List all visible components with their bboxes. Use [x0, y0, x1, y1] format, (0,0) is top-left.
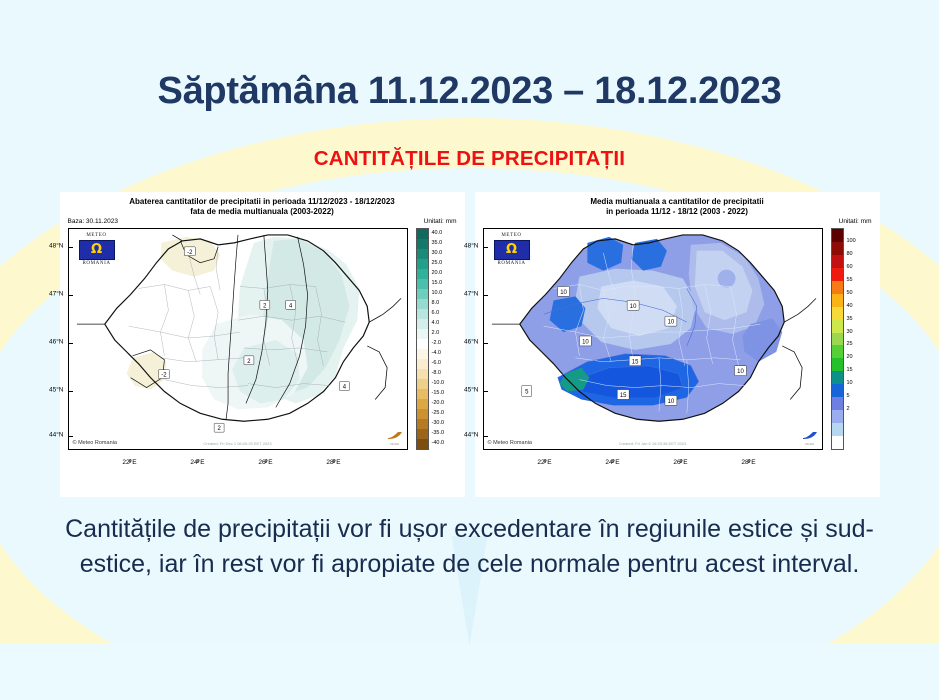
left-map-created: Created: Fri Dec 1 06:00:29 EET 2023 [203, 441, 271, 446]
y-tick-label: 46°N [49, 339, 64, 346]
right-map-frame: 10 10 10 10 10 15 15 [483, 228, 823, 450]
ncar-flag-icon [387, 431, 403, 440]
neighbor-border [369, 298, 401, 322]
colorbar-cell [417, 319, 428, 329]
y-tick-label: 48°N [464, 243, 479, 250]
y-axis-tick [69, 343, 73, 344]
colorbar-tick-label: -35.0 [432, 430, 445, 436]
colorbar-cell [417, 239, 428, 249]
right-map-plot[interactable]: 48°N 47°N 46°N 45°N 44°N [483, 228, 823, 450]
left-map-colorbar[interactable] [416, 228, 429, 450]
y-axis-tick [484, 391, 488, 392]
colorbar-tick-label: 6.0 [432, 310, 440, 316]
colorbar-cell [417, 269, 428, 279]
colorbar-tick-label: 25.0 [432, 260, 443, 266]
logo-top-text: METEO [491, 233, 533, 239]
y-tick-label: 48°N [49, 243, 64, 250]
right-map-copyright: © Meteo Romania [488, 440, 532, 446]
colorbar-cell [417, 249, 428, 259]
contour-label: 15 [619, 393, 626, 399]
colorbar-cell [832, 242, 843, 255]
x-tick-label: 28°E [326, 459, 340, 466]
left-map-base-label: Baza: 30.11.2023 [68, 218, 118, 225]
right-map-meta: Unitati: mm [483, 218, 872, 225]
omega-icon: Ω [506, 243, 517, 256]
right-map-panel[interactable]: Media multianuala a cantitatilor de prec… [475, 192, 880, 497]
y-axis-tick [484, 343, 488, 344]
colorbar-cell [832, 307, 843, 320]
colorbar-cell [417, 349, 428, 359]
colorbar-tick-label: 25 [847, 341, 853, 347]
colorbar-tick-label: -2.0 [432, 340, 441, 346]
colorbar-tick-label: -10.0 [432, 380, 445, 386]
neighbor-border [784, 298, 816, 322]
precip-ne-spot [717, 270, 735, 288]
colorbar-cell [417, 329, 428, 339]
left-map-title-line2: fata de media multianuala (2003-2022) [60, 207, 465, 217]
contour-label: 10 [560, 290, 567, 296]
colorbar-cell [832, 281, 843, 294]
right-map-title-line2: in perioada 11/12 - 18/12 (2003 - 2022) [475, 207, 880, 217]
contour-label: 10 [737, 369, 744, 375]
colorbar-cell [832, 410, 843, 423]
colorbar-cell [832, 333, 843, 346]
logo-bottom-text: ROMANIA [76, 261, 118, 267]
ncar-label: NCAR [802, 442, 818, 446]
right-map-y-axis: 48°N 47°N 46°N 45°N 44°N [457, 228, 481, 450]
x-tick-label: 24°E [190, 459, 204, 466]
colorbar-tick-label: 30 [847, 329, 853, 335]
colorbar-tick-label: 30.0 [432, 250, 443, 256]
y-tick-label: 45°N [464, 387, 479, 394]
left-map-graphic: -2 -2 2 2 4 4 2 [69, 229, 407, 449]
colorbar-cell [417, 399, 428, 409]
colorbar-tick-label: -15.0 [432, 390, 445, 396]
x-tick-label: 22°E [537, 459, 551, 466]
colorbar-tick-label: 40.0 [432, 230, 443, 236]
right-map-colorbar[interactable] [831, 228, 844, 450]
maps-row: Abaterea cantitatilor de precipitatii in… [0, 192, 939, 497]
right-map-title-line1: Media multianuala a cantitatilor de prec… [475, 197, 880, 207]
colorbar-cell [832, 345, 843, 358]
colorbar-tick-label: -20.0 [432, 400, 445, 406]
left-map-plot[interactable]: 48°N 47°N 46°N 45°N 44°N [68, 228, 408, 450]
contour-label: -2 [187, 250, 192, 256]
y-axis-tick [484, 247, 488, 248]
y-axis-tick [484, 295, 488, 296]
x-tick-label: 28°E [741, 459, 755, 466]
colorbar-cell [832, 384, 843, 397]
colorbar-tick-label: -4.0 [432, 350, 441, 356]
y-tick-label: 46°N [464, 339, 479, 346]
colorbar-cell [832, 320, 843, 333]
omega-icon: Ω [91, 243, 102, 256]
caption-text: Cantitățile de precipitații vor fi ușor … [50, 512, 889, 581]
right-map-graphic: 10 10 10 10 10 15 15 [484, 229, 822, 449]
meteo-romania-logo: METEO Ω ROMANIA [491, 233, 533, 266]
ncar-flag-icon [802, 431, 818, 440]
y-tick-label: 45°N [49, 387, 64, 394]
x-tick-label: 26°E [673, 459, 687, 466]
colorbar-tick-label: 10 [847, 380, 853, 386]
colorbar-cell [417, 339, 428, 349]
y-axis-tick [69, 436, 73, 437]
left-map-title-line1: Abaterea cantitatilor de precipitatii in… [60, 197, 465, 207]
colorbar-tick-label: 20.0 [432, 270, 443, 276]
colorbar-cell [832, 294, 843, 307]
x-tick-label: 22°E [122, 459, 136, 466]
colorbar-cell [832, 436, 843, 449]
colorbar-tick-label: 10.0 [432, 290, 443, 296]
right-map-created: Created: Fri Jan 6 16:25:38 EET 2023 [619, 441, 687, 446]
colorbar-cell [417, 439, 428, 449]
colorbar-cell [417, 299, 428, 309]
colorbar-cell [417, 309, 428, 319]
colorbar-cell [417, 379, 428, 389]
colorbar-tick-label: 5 [847, 393, 850, 399]
colorbar-tick-label: 35 [847, 316, 853, 322]
colorbar-tick-label: -6.0 [432, 360, 441, 366]
y-axis-tick [484, 436, 488, 437]
right-map-colorbar-labels: 100806055504035302520151052 [845, 228, 875, 450]
colorbar-cell [417, 289, 428, 299]
x-tick-label: 26°E [258, 459, 272, 466]
left-map-units-label: Unitati: mm [424, 218, 457, 225]
logo-bottom-text: ROMANIA [491, 261, 533, 267]
colorbar-tick-label: 50 [847, 290, 853, 296]
left-map-title: Abaterea cantitatilor de precipitatii in… [60, 192, 465, 217]
colorbar-cell [417, 419, 428, 429]
y-tick-label: 47°N [464, 291, 479, 298]
y-tick-label: 44°N [464, 432, 479, 439]
right-map-title: Media multianuala a cantitatilor de prec… [475, 192, 880, 217]
colorbar-cell [417, 409, 428, 419]
logo-box: Ω [79, 240, 115, 260]
colorbar-tick-label: 4.0 [432, 320, 440, 326]
y-tick-label: 44°N [49, 432, 64, 439]
colorbar-cell [417, 369, 428, 379]
black-sea-coast [367, 346, 387, 400]
colorbar-tick-label: 35.0 [432, 240, 443, 246]
contour-label: 10 [582, 339, 589, 345]
left-map-frame: -2 -2 2 2 4 4 2 [68, 228, 408, 450]
y-axis-tick [69, 247, 73, 248]
colorbar-cell [832, 358, 843, 371]
colorbar-tick-label: 15.0 [432, 280, 443, 286]
left-map-y-axis: 48°N 47°N 46°N 45°N 44°N [42, 228, 66, 450]
x-tick-label: 24°E [605, 459, 619, 466]
ncar-logo: NCAR [387, 431, 403, 446]
colorbar-tick-label: -40.0 [432, 440, 445, 446]
colorbar-tick-label: -30.0 [432, 420, 445, 426]
right-map-x-axis: 22°E 24°E 26°E 28°E [483, 452, 823, 472]
colorbar-cell [832, 229, 843, 242]
colorbar-tick-label: 8.0 [432, 300, 440, 306]
page-title: Săptămâna 11.12.2023 – 18.12.2023 [0, 0, 939, 112]
colorbar-cell [832, 268, 843, 281]
colorbar-tick-label: -25.0 [432, 410, 445, 416]
y-axis-tick [69, 391, 73, 392]
colorbar-cell [417, 429, 428, 439]
background-bottom-band [0, 644, 939, 700]
colorbar-cell [832, 371, 843, 384]
contour-label: 10 [667, 320, 674, 326]
contour-label: 15 [631, 359, 638, 365]
ncar-logo: NCAR [802, 431, 818, 446]
left-map-panel[interactable]: Abaterea cantitatilor de precipitatii in… [60, 192, 465, 497]
colorbar-tick-label: 55 [847, 277, 853, 283]
colorbar-cell [417, 389, 428, 399]
colorbar-cell [417, 359, 428, 369]
black-sea-coast [782, 346, 802, 400]
colorbar-cell [832, 423, 843, 436]
left-map-meta: Baza: 30.11.2023 Unitati: mm [68, 218, 457, 225]
contour-label: 2 [247, 359, 250, 365]
colorbar-cell [417, 229, 428, 239]
colorbar-tick-label: 60 [847, 264, 853, 270]
colorbar-cell [832, 255, 843, 268]
colorbar-tick-label: 20 [847, 354, 853, 360]
left-map-colorbar-labels: 40.035.030.025.020.015.010.08.06.04.02.0… [430, 228, 460, 450]
right-map-units-label: Unitati: mm [839, 218, 872, 225]
colorbar-tick-label: 15 [847, 367, 853, 373]
logo-box: Ω [494, 240, 530, 260]
colorbar-tick-label: 80 [847, 251, 853, 257]
colorbar-tick-label: 100 [847, 238, 856, 244]
contour-label: 10 [667, 399, 674, 405]
colorbar-cell [417, 259, 428, 269]
contour-label: -2 [161, 373, 166, 379]
contour-label: 2 [217, 426, 220, 432]
left-map-x-axis: 22°E 24°E 26°E 28°E [68, 452, 408, 472]
colorbar-cell [832, 397, 843, 410]
contour-label: 2 [263, 303, 266, 309]
colorbar-tick-label: -8.0 [432, 370, 441, 376]
left-map-copyright: © Meteo Romania [73, 440, 117, 446]
y-tick-label: 47°N [49, 291, 64, 298]
meteo-romania-logo: METEO Ω ROMANIA [76, 233, 118, 266]
ncar-label: NCAR [387, 442, 403, 446]
colorbar-tick-label: 2 [847, 406, 850, 412]
colorbar-tick-label: 2.0 [432, 330, 440, 336]
colorbar-tick-label: 40 [847, 303, 853, 309]
y-axis-tick [69, 295, 73, 296]
colorbar-cell [417, 279, 428, 289]
contour-label: 10 [629, 304, 636, 310]
logo-top-text: METEO [76, 233, 118, 239]
page-subtitle: CANTITĂȚILE DE PRECIPITAȚII [0, 112, 939, 171]
